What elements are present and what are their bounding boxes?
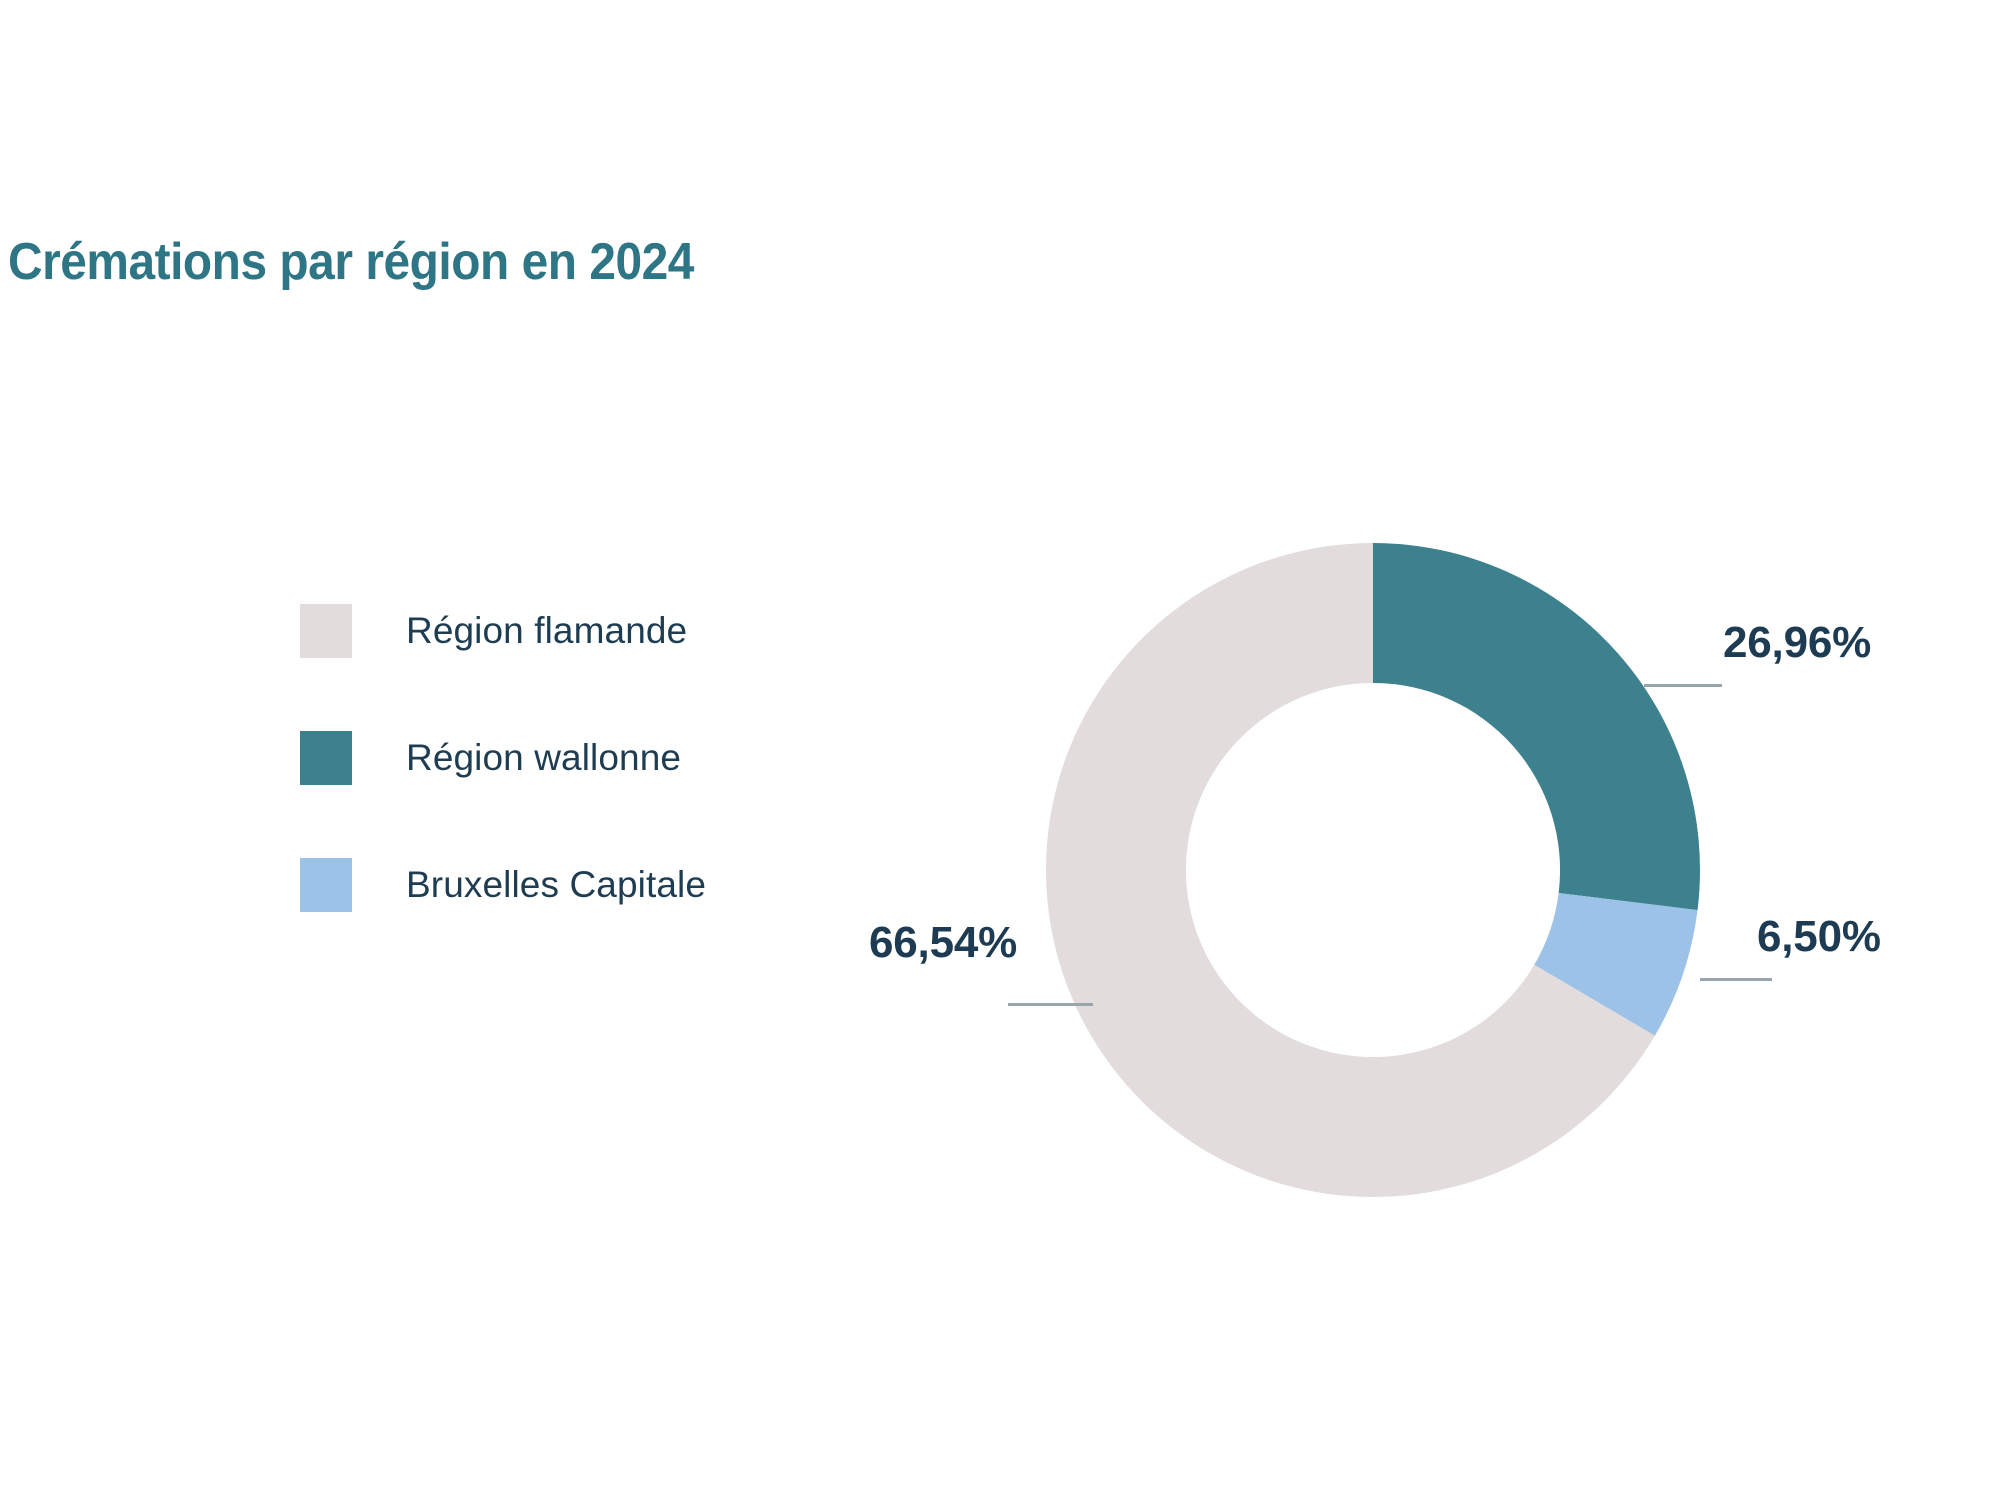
donut-chart [1046,543,1700,1197]
value-label-flamande: 66,54% [869,918,1017,968]
legend-label-wallonne: Région wallonne [406,737,681,779]
leader-line-bruxelles [1700,978,1772,981]
donut-slice-group [1046,543,1700,1197]
legend-label-bruxelles: Bruxelles Capitale [406,864,706,906]
legend-item-bruxelles[interactable]: Bruxelles Capitale [300,857,820,913]
legend-swatch-bruxelles [300,858,352,912]
legend-item-wallonne[interactable]: Région wallonne [300,730,820,786]
value-label-bruxelles: 6,50% [1757,912,1881,962]
chart-legend: Région flamande Région wallonne Bruxelle… [300,603,820,913]
legend-item-flamande[interactable]: Région flamande [300,603,820,659]
legend-swatch-flamande [300,604,352,658]
value-label-wallonne: 26,96% [1723,618,1871,668]
leader-line-flamande [1008,1003,1093,1006]
donut-svg [1046,543,1700,1197]
legend-label-flamande: Région flamande [406,610,687,652]
page-title: Crémations par région en 2024 [8,232,694,292]
leader-line-wallonne [1644,684,1722,687]
donut-slice-r-gion-wallonne[interactable] [1373,543,1700,910]
chart-canvas: Crémations par région en 2024 Région fla… [0,0,2000,1501]
legend-swatch-wallonne [300,731,352,785]
